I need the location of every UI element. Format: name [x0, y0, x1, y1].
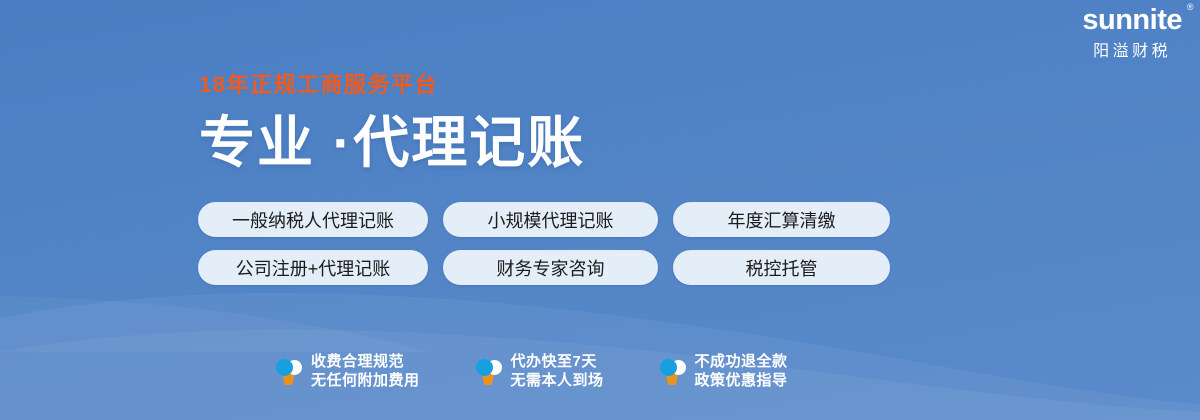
service-pill-general-taxpayer[interactable]: 一般纳税人代理记账 [198, 202, 428, 237]
feature-item-pricing: 收费合理规范 无任何附加费用 [275, 352, 420, 390]
feature-line-2: 政策优惠指导 [695, 372, 788, 389]
service-pill-company-registration[interactable]: 公司注册+代理记账 [198, 250, 428, 285]
hero-headline: 专业 ·代理记账 [199, 115, 585, 171]
feature-text: 收费合理规范 无任何附加费用 [311, 352, 420, 390]
registered-trademark-icon: ® [1187, 3, 1193, 12]
feature-line-2: 无任何附加费用 [311, 372, 420, 389]
feature-item-speed: 代办快至7天 无需本人到场 [475, 352, 604, 390]
brand-chinese-name: 阳溢财税 [1082, 44, 1182, 60]
service-pill-row: 一般纳税人代理记账 小规模代理记账 年度汇算清缴 [198, 202, 890, 237]
service-pill-small-scale[interactable]: 小规模代理记账 [443, 202, 658, 237]
service-pill-annual-settlement[interactable]: 年度汇算清缴 [673, 202, 890, 237]
hero-eyebrow: 18年正规工商服务平台 [199, 74, 585, 96]
badge-circle-icon [475, 356, 502, 386]
brand-wordmark-text: sunnite [1082, 4, 1182, 36]
feature-line-1: 不成功退全款 [695, 353, 788, 370]
brand-wordmark: sunnite ® [1082, 6, 1182, 35]
feature-line-1: 代办快至7天 [511, 353, 597, 370]
brand-logo[interactable]: sunnite ® 阳溢财税 [1082, 6, 1182, 60]
feature-item-guarantee: 不成功退全款 政策优惠指导 [659, 352, 788, 390]
promo-banner: sunnite ® 阳溢财税 18年正规工商服务平台 专业 ·代理记账 一般纳税… [0, 0, 1200, 420]
feature-text: 代办快至7天 无需本人到场 [511, 352, 604, 390]
badge-circle-icon [659, 356, 686, 386]
feature-highlight-group: 收费合理规范 无任何附加费用 代办快至7天 无需本人到场 不成功退全款 政策优惠… [275, 352, 788, 390]
service-pill-group: 一般纳税人代理记账 小规模代理记账 年度汇算清缴 公司注册+代理记账 财务专家咨… [198, 202, 890, 285]
service-pill-row: 公司注册+代理记账 财务专家咨询 税控托管 [198, 250, 890, 285]
feature-text: 不成功退全款 政策优惠指导 [695, 352, 788, 390]
feature-line-2: 无需本人到场 [511, 372, 604, 389]
feature-line-1: 收费合理规范 [311, 353, 404, 370]
hero-text-block: 18年正规工商服务平台 专业 ·代理记账 [199, 74, 585, 171]
service-pill-finance-consult[interactable]: 财务专家咨询 [443, 250, 658, 285]
badge-circle-icon [275, 356, 302, 386]
service-pill-tax-control-hosting[interactable]: 税控托管 [673, 250, 890, 285]
